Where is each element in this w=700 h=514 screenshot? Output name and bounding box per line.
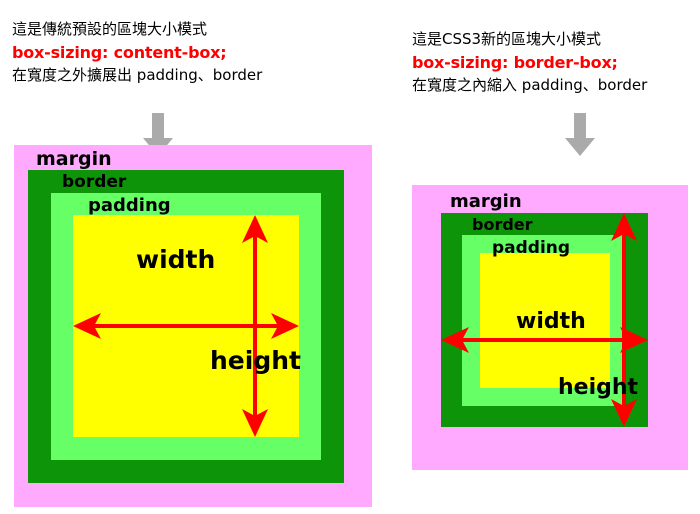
caption-line-3-latin: padding、border xyxy=(137,66,262,84)
box-model-diagram-border-box: margin border padding width height xyxy=(412,185,688,470)
arrow-shaft xyxy=(574,113,586,139)
caption-line-3-latin: padding、border xyxy=(522,76,647,94)
width-dimension-label: width xyxy=(516,311,586,333)
arrow-shaft xyxy=(152,113,164,139)
gray-down-arrow-icon xyxy=(565,113,595,156)
panel-border-box: 這是CSS3新的區塊大小模式 box-sizing: border-box; 在… xyxy=(400,0,700,514)
height-dimension-label: height xyxy=(210,348,301,373)
panel-content-box: 這是傳統預設的區塊大小模式 box-sizing: content-box; 在… xyxy=(0,0,400,514)
caption-line-1: 這是CSS3新的區塊大小模式 xyxy=(412,28,647,51)
caption-content-box: 這是傳統預設的區塊大小模式 box-sizing: content-box; 在… xyxy=(12,18,262,87)
caption-line-3: 在寬度之內縮入 padding、border xyxy=(412,74,647,97)
caption-line-3: 在寬度之外擴展出 padding、border xyxy=(12,64,262,87)
caption-line-3-cjk: 在寬度之外擴展出 xyxy=(12,66,132,84)
caption-code-line: box-sizing: border-box; xyxy=(412,51,647,74)
caption-line-1: 這是傳統預設的區塊大小模式 xyxy=(12,18,262,41)
width-dimension-label: width xyxy=(136,247,215,272)
width-arrow xyxy=(73,313,299,339)
caption-border-box: 這是CSS3新的區塊大小模式 box-sizing: border-box; 在… xyxy=(412,28,647,97)
arrow-head xyxy=(565,138,595,156)
box-model-diagram-content-box: margin border padding width height xyxy=(14,145,372,507)
height-dimension-label: height xyxy=(558,377,638,399)
caption-code-line: box-sizing: content-box; xyxy=(12,41,262,64)
caption-line-3-cjk: 在寬度之內縮入 xyxy=(412,76,517,94)
dimension-arrows xyxy=(14,145,372,507)
